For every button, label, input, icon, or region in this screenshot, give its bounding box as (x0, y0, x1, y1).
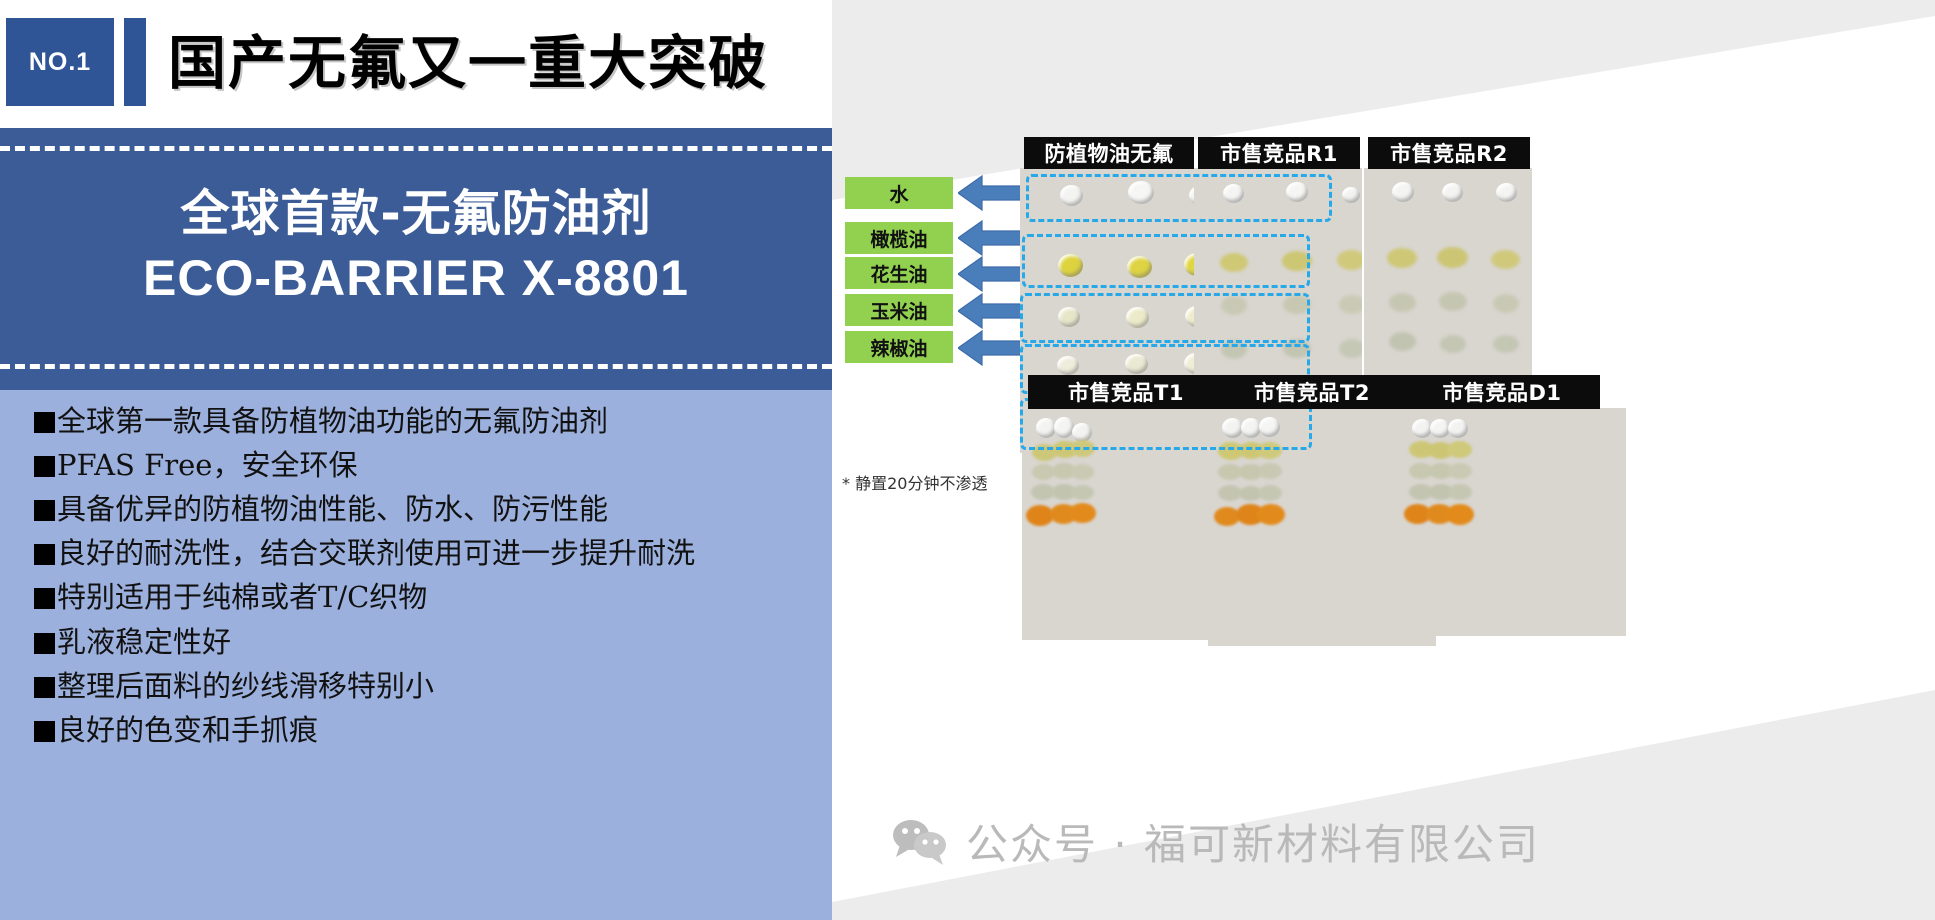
footnote: * 静置20分钟不渗透 (842, 470, 987, 494)
panel-label-t1: 市售竞品T1 (1028, 375, 1224, 409)
stain (1447, 441, 1472, 458)
list-item: 乳液稳定性好 (34, 624, 824, 661)
header-bar: NO.1 国产无氟又一重大突破 (0, 0, 832, 128)
stain (1493, 294, 1519, 313)
stain (1389, 332, 1416, 351)
droplet (1430, 419, 1450, 438)
list-item: 整理后面料的纱线滑移特别小 (34, 668, 824, 705)
watermark-text: 公众号 · 福可新材料有限公司 (966, 811, 1540, 872)
stain (1493, 335, 1519, 353)
stain (1069, 503, 1096, 523)
stain (1257, 504, 1285, 525)
stain (1389, 293, 1416, 312)
bullet-square-icon (34, 588, 55, 609)
bullet-square-icon (34, 412, 55, 433)
panel-label-sample: 防植物油无氟 (1024, 137, 1194, 169)
list-item-label: 整理后面料的纱线滑移特别小 (57, 668, 434, 705)
droplet (1448, 419, 1468, 438)
list-item-label: 良好的耐洗性，结合交联剂使用可进一步提升耐洗 (57, 535, 695, 572)
list-item-label: 全球第一款具备防植物油功能的无氟防油剂 (57, 403, 608, 440)
stain (1440, 335, 1466, 353)
slide-root: NO.1 国产无氟又一重大突破 全球首款-无氟防油剂 ECO-BARRIER X… (0, 0, 1935, 920)
stain (1448, 463, 1472, 479)
decor-wedge-bottom (832, 690, 1935, 920)
banner-headline-cn: 全球首款-无氟防油剂 (0, 184, 832, 244)
page-title-text: 国产无氟又一重大突破 (168, 34, 768, 92)
droplet (1496, 183, 1517, 202)
banner-dashed-divider-bottom (0, 364, 832, 369)
stain (1448, 484, 1472, 500)
highlight-box-peanut (1020, 293, 1310, 343)
features-list: 全球第一款具备防植物油功能的无氟防油剂 PFAS Free，安全环保 具备优异的… (34, 403, 824, 756)
no1-badge-label: NO.1 (29, 48, 91, 77)
panel-label-r1: 市售竞品R1 (1198, 137, 1360, 169)
bullet-square-icon (34, 677, 55, 698)
list-item-label: 具备优异的防植物油性能、防水、防污性能 (57, 491, 608, 528)
banner-text-block: 全球首款-无氟防油剂 ECO-BARRIER X-8801 (0, 184, 832, 308)
list-item: 具备优异的防植物油性能、防水、防污性能 (34, 491, 824, 528)
test-label-corn-oil: 玉米油 (845, 294, 953, 326)
stain (1071, 485, 1094, 500)
stain (1337, 250, 1362, 270)
bullet-square-icon (34, 456, 55, 477)
stain (1258, 463, 1282, 479)
panel-label-r2: 市售竞品R2 (1368, 137, 1530, 169)
no1-badge: NO.1 (6, 18, 114, 106)
stain (1491, 250, 1520, 269)
stain (1387, 248, 1417, 268)
banner-dashed-divider-top (0, 146, 832, 151)
bullet-square-icon (34, 500, 55, 521)
stain (1339, 295, 1362, 314)
right-panel: 水 橄榄油 花生油 玉米油 辣椒油 * 静置20分钟不渗透 防植物油无氟 (832, 0, 1935, 920)
list-item: 特别适用于纯棉或者T/C织物 (34, 579, 824, 616)
bullet-square-icon (34, 633, 55, 654)
list-item: 全球第一款具备防植物油功能的无氟防油剂 (34, 403, 824, 440)
stain (1439, 292, 1467, 311)
list-item-label: PFAS Free，安全环保 (57, 447, 357, 484)
list-item-label: 良好的色变和手抓痕 (57, 712, 318, 749)
page-title: 国产无氟又一重大突破 (168, 20, 808, 106)
droplet (1442, 183, 1463, 202)
test-label-olive-oil: 橄榄油 (845, 222, 953, 254)
highlight-box-water (1026, 174, 1332, 222)
stain (1446, 504, 1474, 525)
stain (1258, 485, 1282, 501)
panel-label-d1: 市售竞品D1 (1404, 375, 1600, 409)
features-panel: 全球第一款具备防植物油功能的无氟防油剂 PFAS Free，安全环保 具备优异的… (0, 390, 832, 920)
product-banner: 全球首款-无氟防油剂 ECO-BARRIER X-8801 (0, 128, 832, 390)
stain (1071, 464, 1094, 480)
stain (1339, 339, 1362, 358)
watermark: 公众号 · 福可新材料有限公司 (892, 811, 1540, 872)
left-panel: NO.1 国产无氟又一重大突破 全球首款-无氟防油剂 ECO-BARRIER X… (0, 0, 832, 920)
droplet (1412, 419, 1432, 438)
test-label-water: 水 (845, 177, 953, 209)
panel-label-t2: 市售竞品T2 (1214, 375, 1410, 409)
stain (1437, 247, 1468, 268)
wechat-icon (892, 817, 950, 867)
list-item: 良好的色变和手抓痕 (34, 712, 824, 749)
list-item: PFAS Free，安全环保 (34, 447, 824, 484)
list-item-label: 特别适用于纯棉或者T/C织物 (57, 579, 427, 616)
test-label-chili-oil: 辣椒油 (845, 331, 953, 363)
bullet-square-icon (34, 544, 55, 565)
droplet (1392, 182, 1414, 202)
list-item: 良好的耐洗性，结合交联剂使用可进一步提升耐洗 (34, 535, 824, 572)
bullet-square-icon (34, 721, 55, 742)
test-label-peanut-oil: 花生油 (845, 257, 953, 289)
list-item-label: 乳液稳定性好 (57, 624, 231, 661)
highlight-box-olive (1022, 234, 1310, 288)
accent-bar (124, 18, 146, 106)
banner-headline-en: ECO-BARRIER X-8801 (0, 248, 832, 308)
droplet (1342, 187, 1360, 203)
photo-panel-d1 (1398, 408, 1626, 636)
